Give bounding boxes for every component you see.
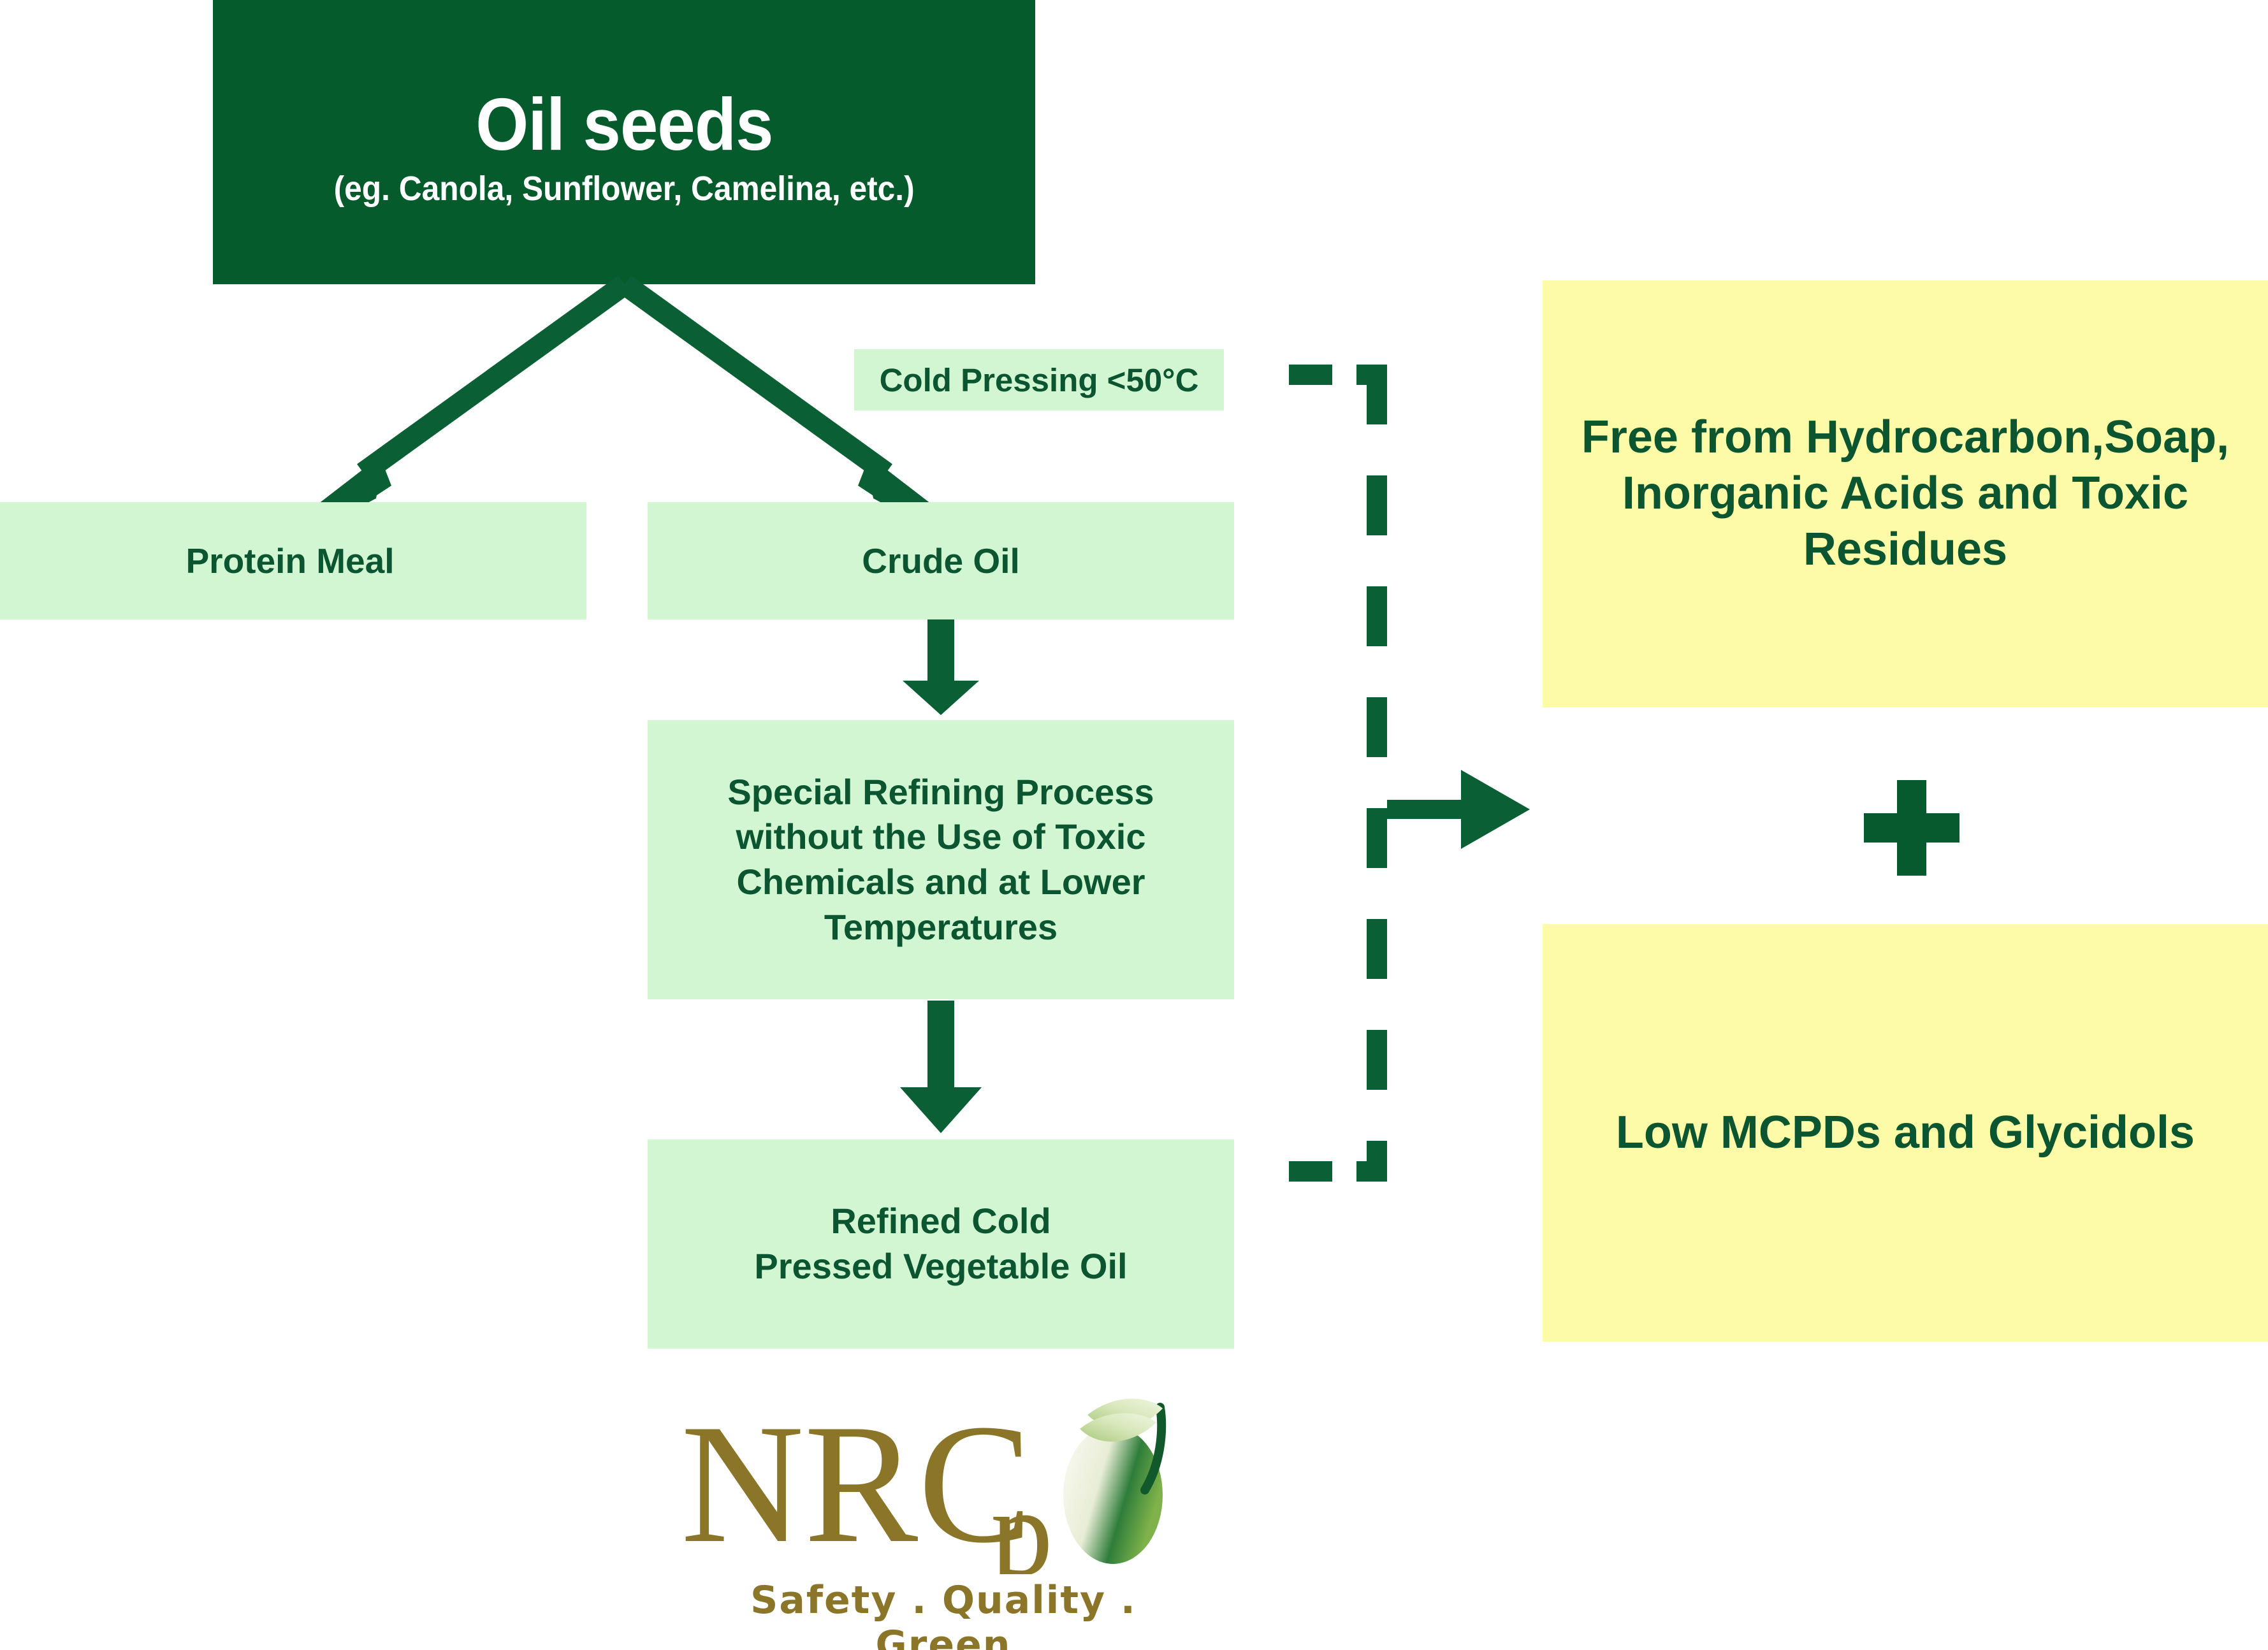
logo-tagline: Safety . Quality . Green (676, 1578, 1211, 1650)
dashed-bracket-connector (1289, 365, 1530, 1180)
special-refining-process-label: Special Refining Process without the Use… (727, 770, 1154, 950)
free-from-line-2: Hydrocarbon,Soap, (1806, 412, 2229, 463)
protein-meal-label: Protein Meal (185, 540, 394, 581)
cold-pressing-label: Cold Pressing <50°C (880, 361, 1199, 399)
oil-seeds-title: Oil seeds (476, 87, 773, 161)
cold-pressing-node: Cold Pressing <50°C (854, 349, 1224, 410)
low-mcpd-line-1: Low MCPDs and (1616, 1107, 1975, 1158)
crude-oil-label: Crude Oil (862, 540, 1020, 581)
arrow-oilseeds-to-protein-meal (317, 284, 625, 517)
nrcpo-wordmark: NRC p (676, 1389, 1211, 1574)
free-from-contaminants-node: Free from Hydrocarbon,Soap, Inorganic Ac… (1543, 280, 2268, 707)
protein-meal-node: Protein Meal (0, 502, 586, 619)
free-from-line-1: Free from (1581, 412, 1793, 463)
refined-cold-pressed-oil-node: Refined Cold Pressed Vegetable Oil (648, 1140, 1234, 1349)
plus-icon (1847, 763, 1975, 891)
refining-line-2: without the Use of Toxic (727, 814, 1154, 860)
plus-icon-vertical-bar (1897, 780, 1926, 876)
refined-oil-line-1: Refined Cold (754, 1199, 1127, 1244)
free-from-contaminants-label: Free from Hydrocarbon,Soap, Inorganic Ac… (1574, 410, 2236, 577)
crude-oil-node: Crude Oil (648, 502, 1234, 619)
logo-letter-p: p (991, 1463, 1053, 1574)
oil-seeds-node: Oil seeds (eg. Canola, Sunflower, Cameli… (213, 0, 1035, 284)
logo-letters-nrc: NRC (681, 1389, 1032, 1574)
arrow-crude-oil-to-refining (903, 619, 979, 715)
diagram-canvas: Oil seeds (eg. Canola, Sunflower, Cameli… (0, 0, 2268, 1650)
logo-olive-icon (1063, 1399, 1163, 1564)
refining-line-1: Special Refining Process (727, 770, 1154, 815)
refining-line-3: Chemicals and at Lower (727, 860, 1154, 905)
refined-cold-pressed-oil-label: Refined Cold Pressed Vegetable Oil (754, 1199, 1127, 1289)
oil-seeds-subtitle: (eg. Canola, Sunflower, Camelina, etc.) (333, 170, 914, 208)
nrcpo-logo: NRC p (676, 1389, 1211, 1644)
free-from-line-3: Inorganic Acids and (1622, 468, 2059, 519)
refining-line-4: Temperatures (727, 905, 1154, 950)
low-mcpd-line-2: Glycidols (1988, 1107, 2195, 1158)
low-mcpds-glycidols-node: Low MCPDs and Glycidols (1543, 924, 2268, 1342)
refined-oil-line-2: Pressed Vegetable Oil (754, 1244, 1127, 1289)
arrow-refining-to-refined-oil (900, 1001, 982, 1133)
special-refining-process-node: Special Refining Process without the Use… (648, 720, 1234, 999)
low-mcpds-glycidols-label: Low MCPDs and Glycidols (1616, 1105, 2195, 1161)
